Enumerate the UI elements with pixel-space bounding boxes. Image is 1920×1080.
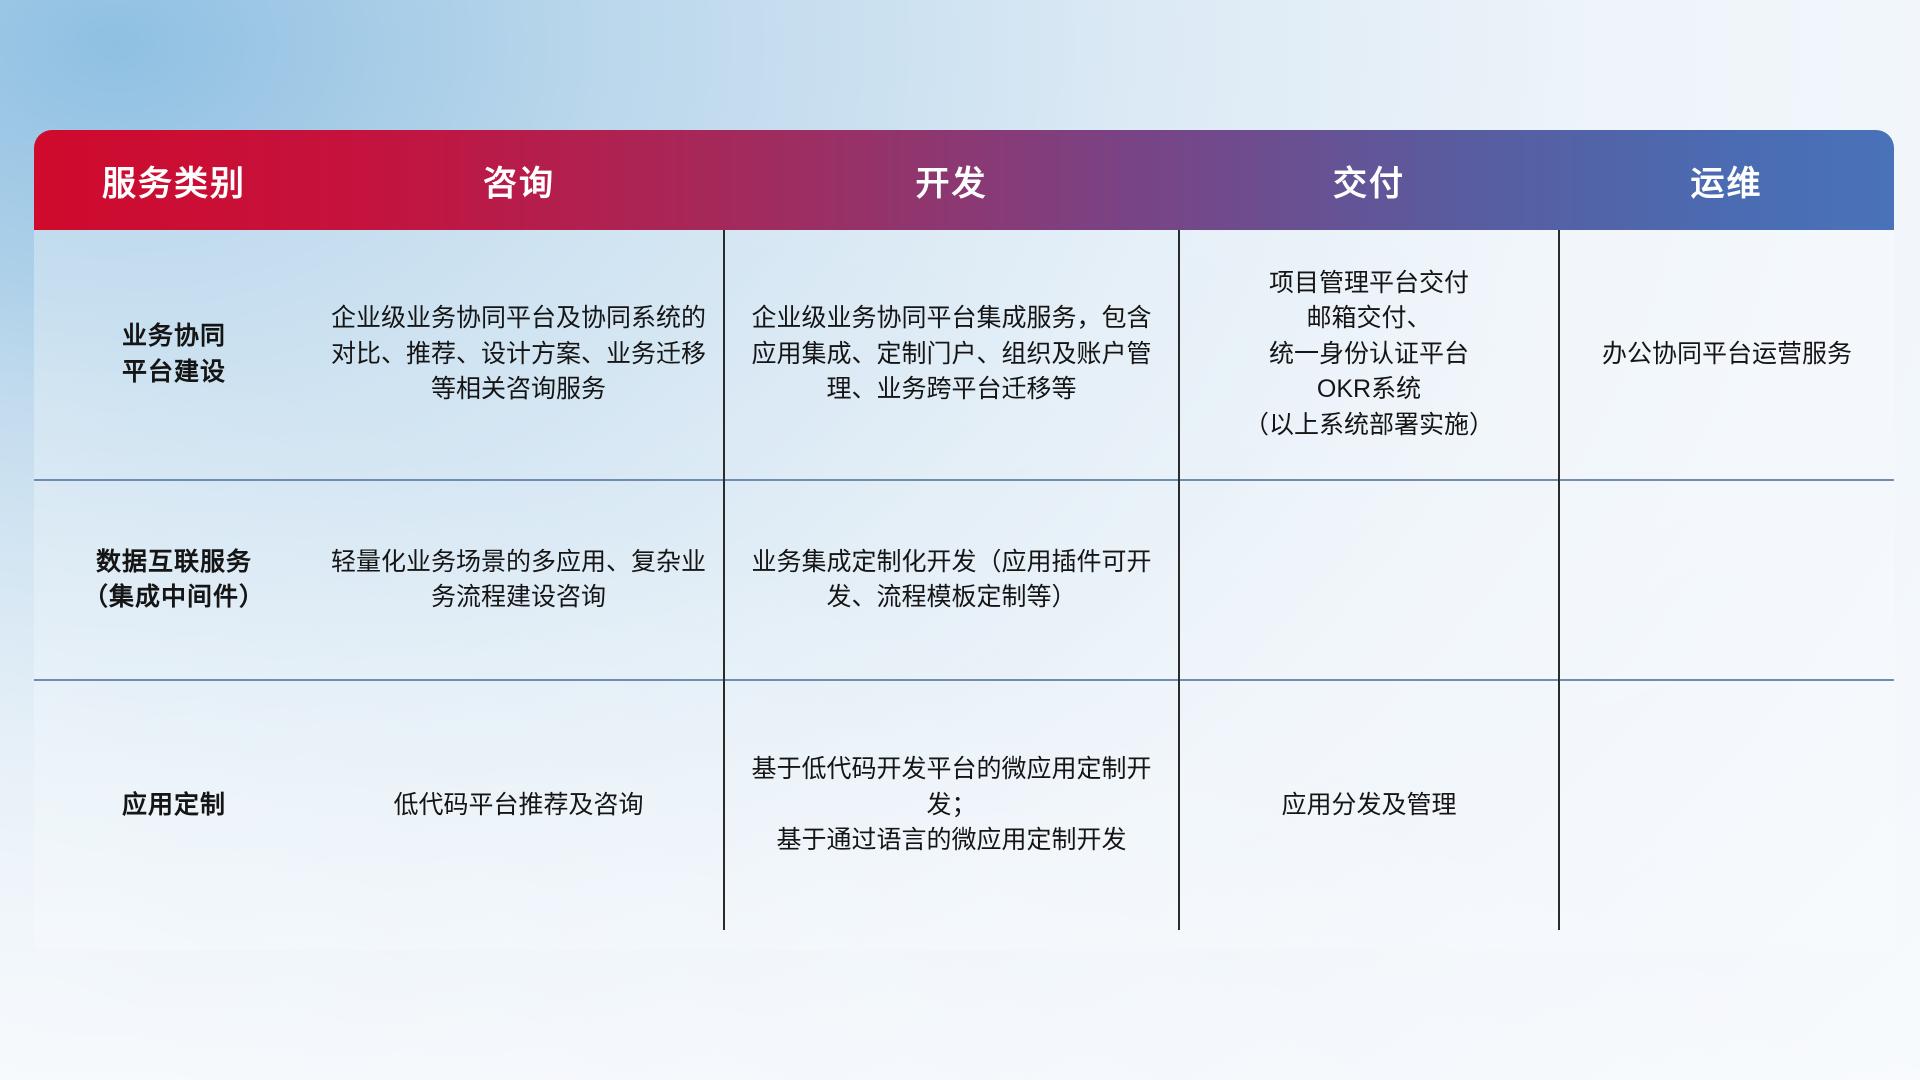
row-category-cell: 数据互联服务（集成中间件）	[34, 480, 314, 680]
row-delivery-cell	[1179, 480, 1559, 680]
table-row[interactable]: 业务协同平台建设 企业级业务协同平台及协同系统的对比、推荐、设计方案、业务迁移等…	[34, 230, 1894, 480]
row-operations-cell: 办公协同平台运营服务	[1559, 230, 1894, 480]
table: 服务类别 咨询 开发 交付 运维	[34, 130, 1894, 930]
column-header-operations-label: 运维	[1559, 156, 1894, 205]
row-consulting-cell: 企业级业务协同平台及协同系统的对比、推荐、设计方案、业务迁移等相关咨询服务	[314, 230, 724, 480]
slide-canvas: 服务类别 咨询 开发 交付 运维	[0, 0, 1920, 1080]
row-operations-cell	[1559, 680, 1894, 930]
row-operations-cell	[1559, 480, 1894, 680]
row-delivery-cell: 应用分发及管理	[1179, 680, 1559, 930]
row-development-cell: 企业级业务协同平台集成服务，包含应用集成、定制门户、组织及账户管理、业务跨平台迁…	[724, 230, 1179, 480]
table-row[interactable]: 数据互联服务（集成中间件） 轻量化业务场景的多应用、复杂业务流程建设咨询 业务集…	[34, 480, 1894, 680]
column-header-operations[interactable]: 运维	[1559, 130, 1894, 230]
table-header: 服务类别 咨询 开发 交付 运维	[34, 130, 1894, 230]
row-category-cell: 应用定制	[34, 680, 314, 930]
column-header-category[interactable]: 服务类别	[34, 130, 314, 230]
header-row: 服务类别 咨询 开发 交付 运维	[34, 130, 1894, 230]
table-row[interactable]: 应用定制 低代码平台推荐及咨询 基于低代码开发平台的微应用定制开发；基于通过语言…	[34, 680, 1894, 930]
column-header-development-label: 开发	[724, 156, 1179, 205]
row-consulting-cell: 低代码平台推荐及咨询	[314, 680, 724, 930]
column-header-consulting[interactable]: 咨询	[314, 130, 724, 230]
service-category-table: 服务类别 咨询 开发 交付 运维	[34, 130, 1894, 950]
table-body: 业务协同平台建设 企业级业务协同平台及协同系统的对比、推荐、设计方案、业务迁移等…	[34, 230, 1894, 930]
row-consulting-cell: 轻量化业务场景的多应用、复杂业务流程建设咨询	[314, 480, 724, 680]
row-delivery-cell: 项目管理平台交付邮箱交付、统一身份认证平台OKR系统（以上系统部署实施）	[1179, 230, 1559, 480]
column-header-consulting-label: 咨询	[314, 156, 724, 205]
column-header-development[interactable]: 开发	[724, 130, 1179, 230]
row-development-cell: 基于低代码开发平台的微应用定制开发；基于通过语言的微应用定制开发	[724, 680, 1179, 930]
row-category-cell: 业务协同平台建设	[34, 230, 314, 480]
column-header-category-label: 服务类别	[34, 156, 314, 205]
column-header-delivery[interactable]: 交付	[1179, 130, 1559, 230]
column-header-delivery-label: 交付	[1179, 156, 1559, 205]
row-development-cell: 业务集成定制化开发（应用插件可开发、流程模板定制等）	[724, 480, 1179, 680]
